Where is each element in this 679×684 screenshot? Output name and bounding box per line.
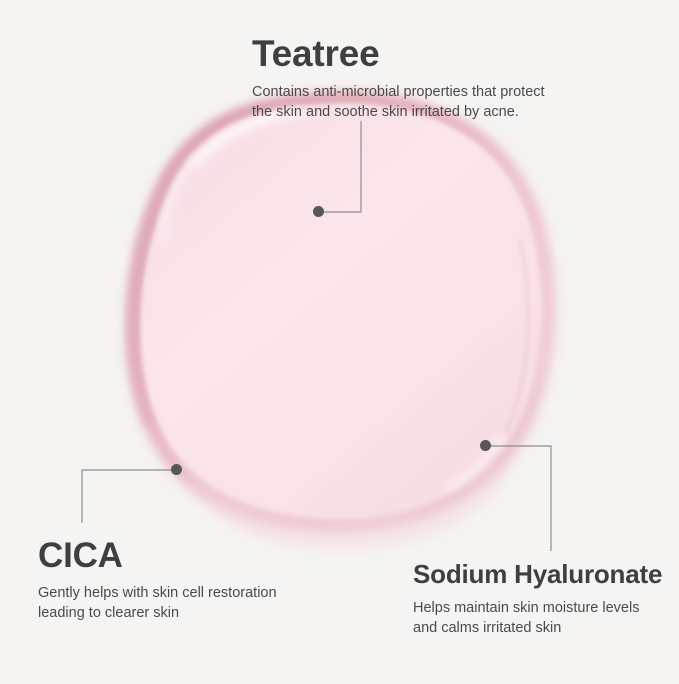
- callout-sodium-hyaluronate: Sodium Hyaluronate Helps maintain skin m…: [413, 558, 662, 638]
- callout-cica: CICA Gently helps with skin cell restora…: [38, 535, 277, 623]
- leader-line-cica: [82, 470, 174, 523]
- callout-dot-cica[interactable]: [171, 464, 182, 475]
- callout-title-sodium-hyaluronate: Sodium Hyaluronate: [413, 558, 662, 590]
- callout-title-cica: CICA: [38, 535, 277, 577]
- leader-line-sodium-hyaluronate: [489, 446, 551, 551]
- ingredient-infographic: Teatree Contains anti-microbial properti…: [0, 0, 679, 679]
- callout-dot-sodium-hyaluronate[interactable]: [480, 440, 491, 451]
- leader-line-teatree: [322, 121, 361, 212]
- callout-dot-teatree[interactable]: [313, 206, 324, 217]
- callout-description-teatree: Contains anti-microbial properties that …: [252, 82, 545, 122]
- callout-title-teatree: Teatree: [252, 32, 545, 76]
- callout-description-cica: Gently helps with skin cell restoration …: [38, 583, 277, 623]
- callout-description-sodium-hyaluronate: Helps maintain skin moisture levels and …: [413, 598, 662, 638]
- callout-teatree: Teatree Contains anti-microbial properti…: [252, 32, 545, 122]
